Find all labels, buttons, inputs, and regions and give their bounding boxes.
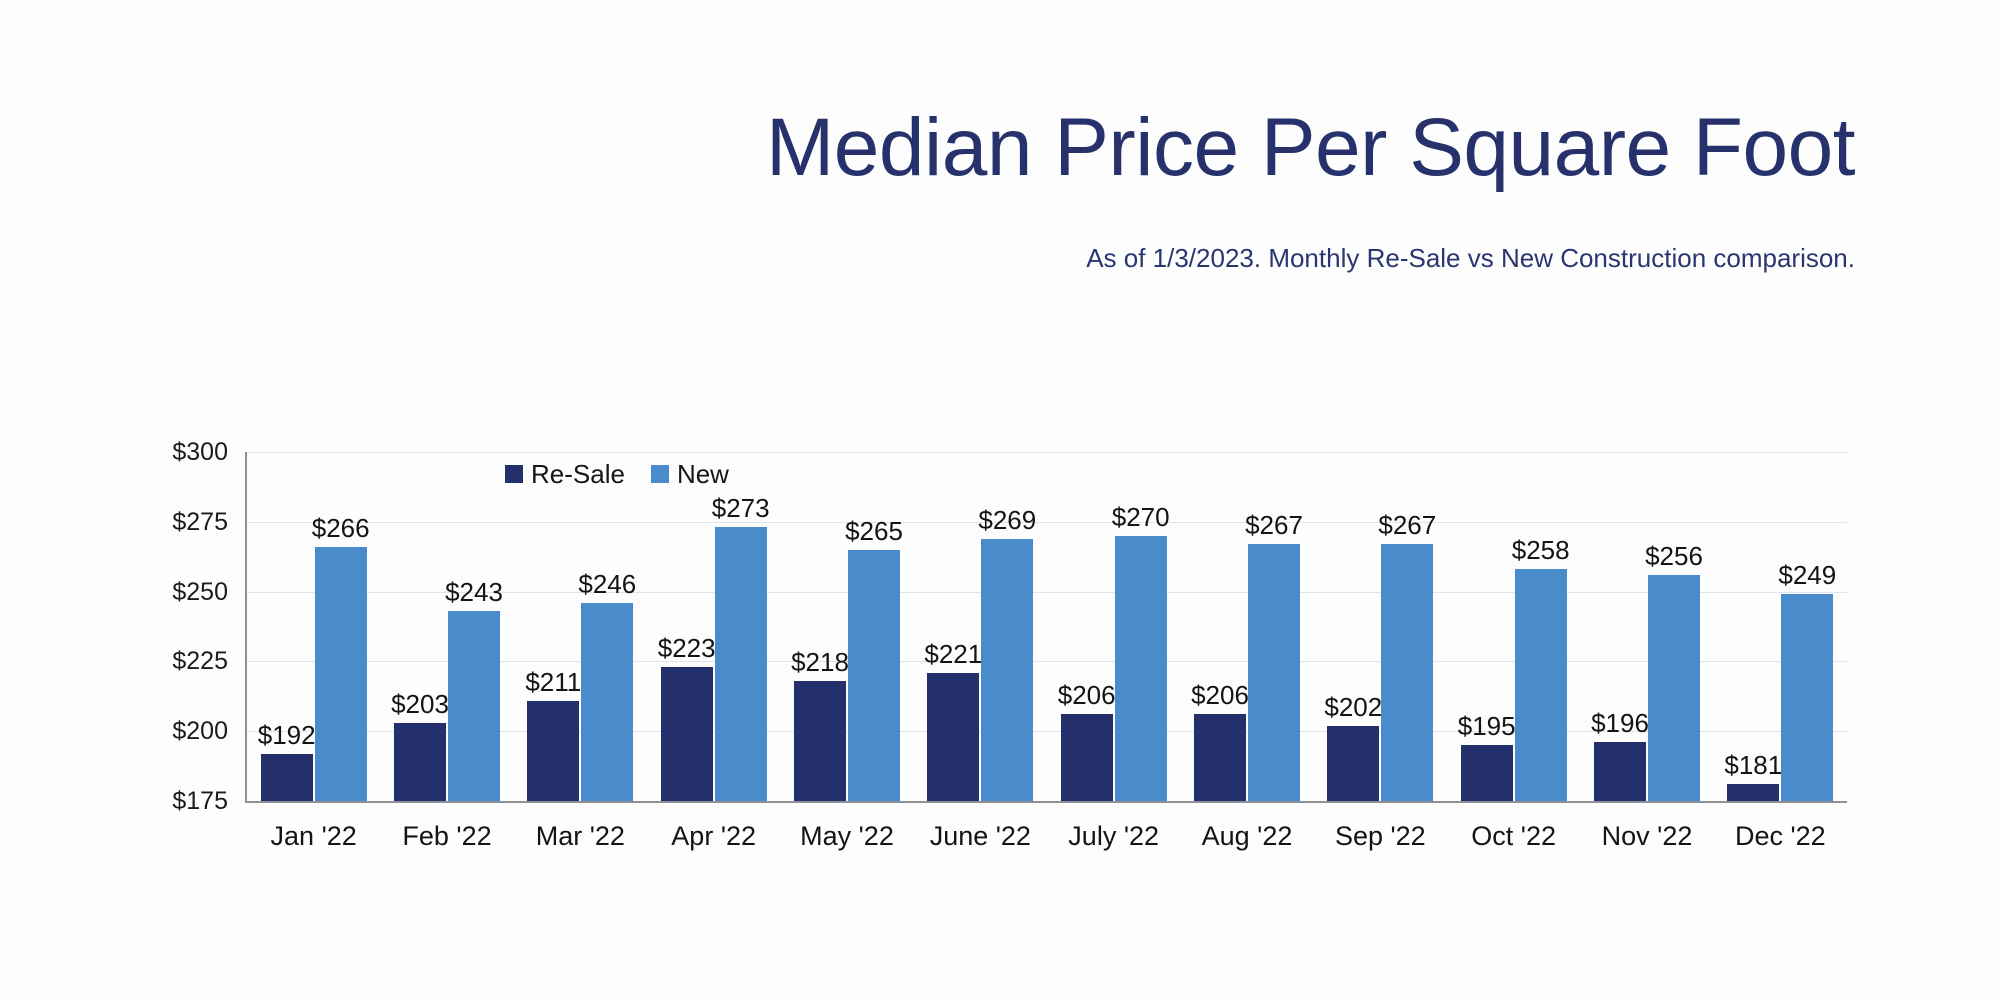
bar-re-sale[interactable]: $192: [261, 754, 313, 801]
x-axis-tick-label: Feb '22: [402, 820, 491, 852]
bar-value-label: $265: [845, 518, 903, 544]
bar-re-sale[interactable]: $211: [527, 701, 579, 802]
bar-value-label: $269: [978, 507, 1036, 533]
bar-re-sale[interactable]: $195: [1461, 745, 1513, 801]
bars-layer: $192$266$203$243$211$246$223$273$218$265…: [247, 452, 1847, 801]
y-axis-tick-labels: $300$275$250$225$200$175: [108, 452, 228, 803]
x-axis-tick-label: Nov '22: [1602, 820, 1693, 852]
page-title: Median Price Per Square Foot: [0, 105, 1855, 191]
bar-value-label: $267: [1378, 512, 1436, 538]
x-axis-tick-label: July '22: [1068, 820, 1159, 852]
x-axis-tick-label: June '22: [930, 820, 1031, 852]
bar-re-sale[interactable]: $221: [927, 673, 979, 801]
bar-value-label: $249: [1778, 562, 1836, 588]
x-axis-tick-label: Mar '22: [536, 820, 625, 852]
y-axis-tick-label: $300: [108, 440, 228, 465]
bar-group: $223$273: [647, 452, 780, 801]
x-axis-tick-label: Sep '22: [1335, 820, 1426, 852]
chart-canvas: Median Price Per Square Foot As of 1/3/2…: [0, 0, 2000, 1000]
legend-item-re-sale[interactable]: Re-Sale: [505, 461, 625, 487]
bar-new[interactable]: $267: [1248, 544, 1300, 801]
bar-value-label: $246: [578, 571, 636, 597]
bar-new[interactable]: $249: [1781, 594, 1833, 801]
x-axis-line: [245, 801, 1847, 803]
chart-subtitle: As of 1/3/2023. Monthly Re-Sale vs New C…: [0, 243, 1855, 273]
bar-value-label: $181: [1724, 752, 1782, 778]
chart-legend: Re-SaleNew: [505, 461, 729, 487]
legend-item-new[interactable]: New: [651, 461, 729, 487]
y-axis-tick-label: $175: [108, 789, 228, 814]
bar-value-label: $243: [445, 579, 503, 605]
bar-value-label: $218: [791, 649, 849, 675]
bar-group: $203$243: [380, 452, 513, 801]
bar-group: $202$267: [1314, 452, 1447, 801]
y-axis-tick-label: $250: [108, 580, 228, 605]
bar-value-label: $267: [1245, 512, 1303, 538]
bar-value-label: $203: [391, 691, 449, 717]
x-axis-tick-label: Aug '22: [1202, 820, 1293, 852]
bar-re-sale[interactable]: $203: [394, 723, 446, 801]
bar-new[interactable]: $270: [1115, 536, 1167, 801]
bar-value-label: $206: [1191, 682, 1249, 708]
bar-group: $195$258: [1447, 452, 1580, 801]
bar-value-label: $206: [1058, 682, 1116, 708]
bar-group: $206$270: [1047, 452, 1180, 801]
x-axis-tick-label: May '22: [800, 820, 894, 852]
bar-re-sale[interactable]: $206: [1194, 714, 1246, 801]
bar-group: $221$269: [914, 452, 1047, 801]
bar-value-label: $202: [1324, 694, 1382, 720]
bar-value-label: $273: [712, 495, 770, 521]
bar-new[interactable]: $267: [1381, 544, 1433, 801]
y-axis-tick-label: $225: [108, 649, 228, 674]
bar-value-label: $195: [1458, 713, 1516, 739]
bar-new[interactable]: $265: [848, 550, 900, 801]
x-axis-tick-labels: Jan '22Feb '22Mar '22Apr '22May '22June …: [247, 820, 1847, 860]
bar-new[interactable]: $266: [315, 547, 367, 801]
bar-value-label: $266: [312, 515, 370, 541]
x-axis-tick-label: Oct '22: [1471, 820, 1556, 852]
bar-re-sale[interactable]: $223: [661, 667, 713, 801]
bar-value-label: $256: [1645, 543, 1703, 569]
bar-group: $181$249: [1714, 452, 1847, 801]
bar-value-label: $223: [658, 635, 716, 661]
bar-new[interactable]: $269: [981, 539, 1033, 801]
bar-new[interactable]: $258: [1515, 569, 1567, 801]
bar-new[interactable]: $273: [715, 527, 767, 801]
bar-value-label: $221: [924, 641, 982, 667]
bar-group: $206$267: [1180, 452, 1313, 801]
x-axis-tick-label: Jan '22: [271, 820, 357, 852]
bar-group: $218$265: [780, 452, 913, 801]
bar-group: $211$246: [514, 452, 647, 801]
bar-group: $192$266: [247, 452, 380, 801]
bar-value-label: $211: [525, 669, 581, 695]
legend-label: New: [677, 461, 729, 487]
bar-value-label: $258: [1512, 537, 1570, 563]
bar-re-sale[interactable]: $196: [1594, 742, 1646, 801]
bar-value-label: $196: [1591, 710, 1649, 736]
bar-value-label: $192: [258, 722, 316, 748]
y-axis-tick-label: $200: [108, 719, 228, 744]
x-axis-tick-label: Dec '22: [1735, 820, 1826, 852]
bar-re-sale[interactable]: $206: [1061, 714, 1113, 801]
x-axis-tick-label: Apr '22: [671, 820, 756, 852]
bar-re-sale[interactable]: $181: [1727, 784, 1779, 801]
legend-swatch-icon: [651, 465, 669, 483]
bar-group: $196$256: [1580, 452, 1713, 801]
bar-re-sale[interactable]: $202: [1327, 726, 1379, 801]
bar-new[interactable]: $256: [1648, 575, 1700, 801]
bar-new[interactable]: $243: [448, 611, 500, 801]
legend-swatch-icon: [505, 465, 523, 483]
bar-value-label: $270: [1112, 504, 1170, 530]
bar-re-sale[interactable]: $218: [794, 681, 846, 801]
bar-new[interactable]: $246: [581, 603, 633, 801]
y-axis-tick-label: $275: [108, 510, 228, 535]
legend-label: Re-Sale: [531, 461, 625, 487]
